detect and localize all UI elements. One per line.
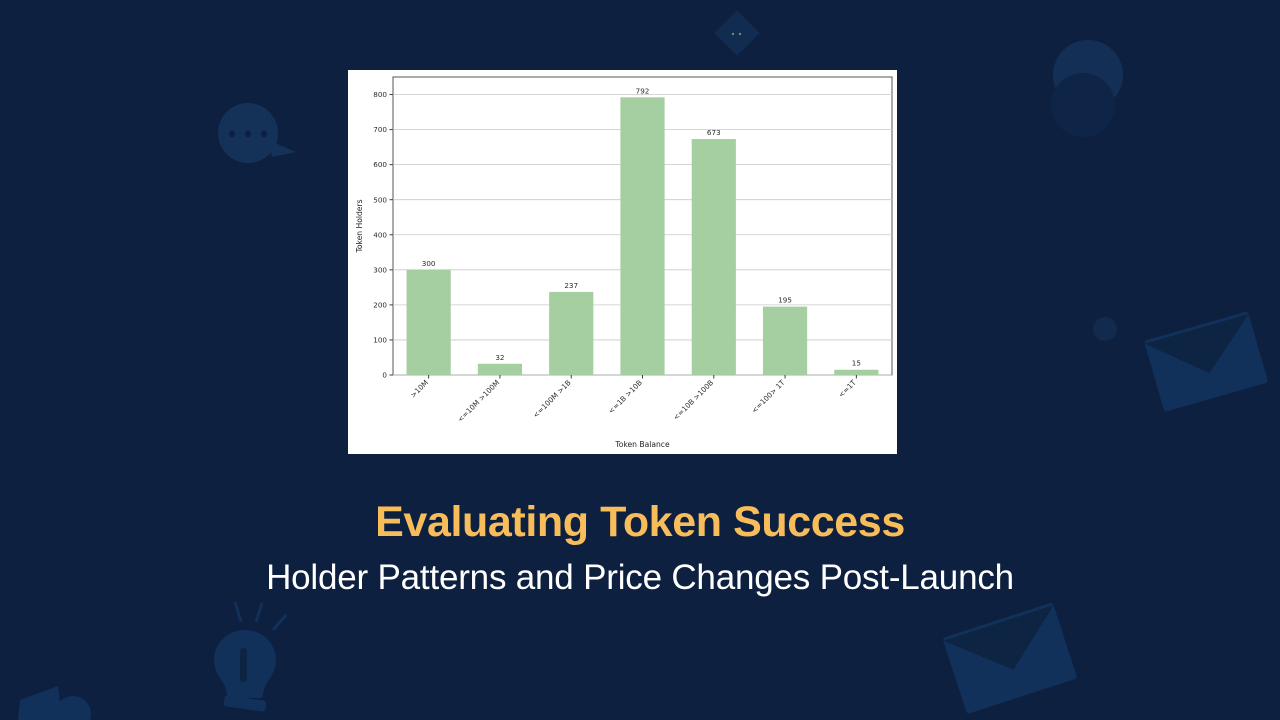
y-tick-label: 200 (373, 300, 387, 309)
chart-card: 0100200300400500600700800300>10M32<=10M … (348, 70, 897, 454)
diamond-icon (714, 10, 759, 55)
page-subtitle: Holder Patterns and Price Changes Post-L… (0, 555, 1280, 601)
lightbulb-icon (214, 602, 286, 712)
bar-value-label: 792 (636, 86, 650, 95)
circle-icon (1051, 40, 1123, 137)
bar (549, 292, 593, 375)
bar (834, 370, 878, 375)
y-tick-label: 700 (373, 125, 387, 134)
y-axis-title: Token Holders (355, 199, 364, 253)
y-tick-label: 600 (373, 160, 387, 169)
bar-value-label: 32 (495, 353, 504, 362)
x-axis-title: Token Balance (614, 440, 670, 449)
circle-small-icon (1093, 317, 1117, 341)
bar-value-label: 195 (778, 296, 792, 305)
bar (692, 139, 736, 375)
y-tick-label: 100 (373, 336, 387, 345)
y-tick-label: 500 (373, 195, 387, 204)
bar-value-label: 15 (852, 359, 861, 368)
bar-value-label: 300 (422, 259, 436, 268)
bar-chart: 0100200300400500600700800300>10M32<=10M … (348, 70, 897, 454)
speech-bubble-icon (218, 103, 296, 163)
y-tick-label: 300 (373, 265, 387, 274)
envelope-icon (942, 602, 1077, 714)
circle-icon (18, 686, 91, 720)
title-block: Evaluating Token Success Holder Patterns… (0, 498, 1280, 601)
bar-value-label: 673 (707, 128, 721, 137)
y-tick-label: 0 (382, 371, 387, 380)
bar (478, 364, 522, 375)
envelope-icon (1144, 311, 1268, 412)
y-tick-label: 800 (373, 90, 387, 99)
bar (620, 97, 664, 375)
page-title: Evaluating Token Success (0, 498, 1280, 547)
bar (763, 307, 807, 375)
y-tick-label: 400 (373, 230, 387, 239)
bar (407, 270, 451, 375)
bar-value-label: 237 (564, 281, 578, 290)
